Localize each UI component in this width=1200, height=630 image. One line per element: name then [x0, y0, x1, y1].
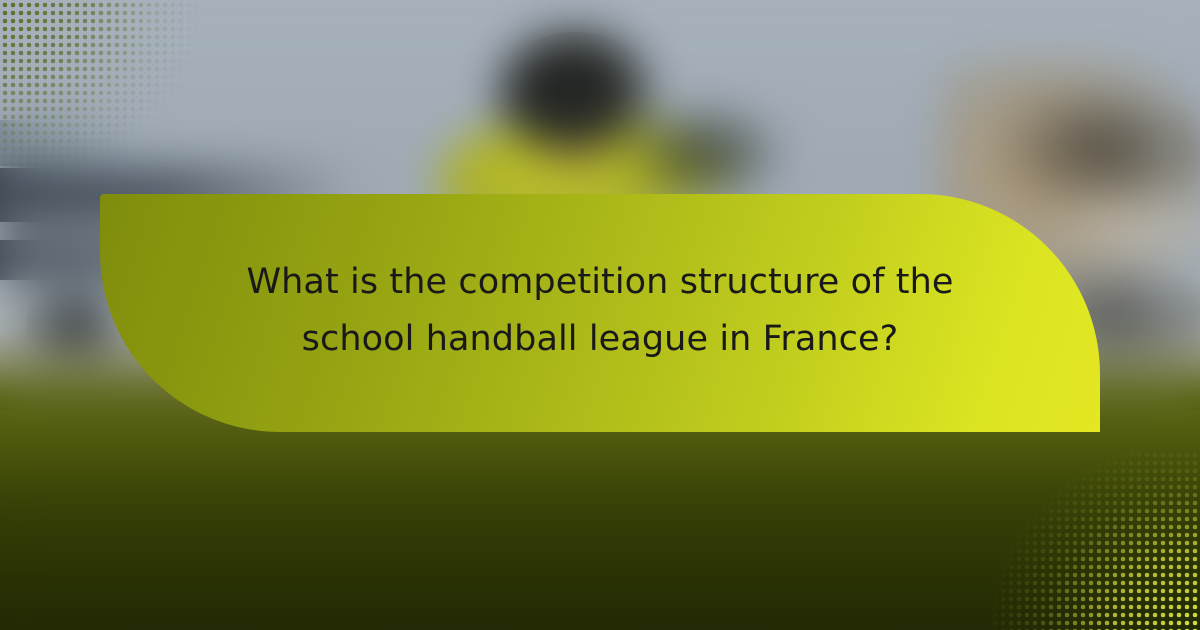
question-card: What is the competition structure of the…: [100, 194, 1100, 432]
question-line-2: school handball league in France?: [302, 319, 899, 359]
question-line-1: What is the competition structure of the: [246, 262, 953, 302]
question-card-graphic: What is the competition structure of the…: [0, 0, 1200, 630]
question-text: What is the competition structure of the…: [246, 254, 953, 368]
